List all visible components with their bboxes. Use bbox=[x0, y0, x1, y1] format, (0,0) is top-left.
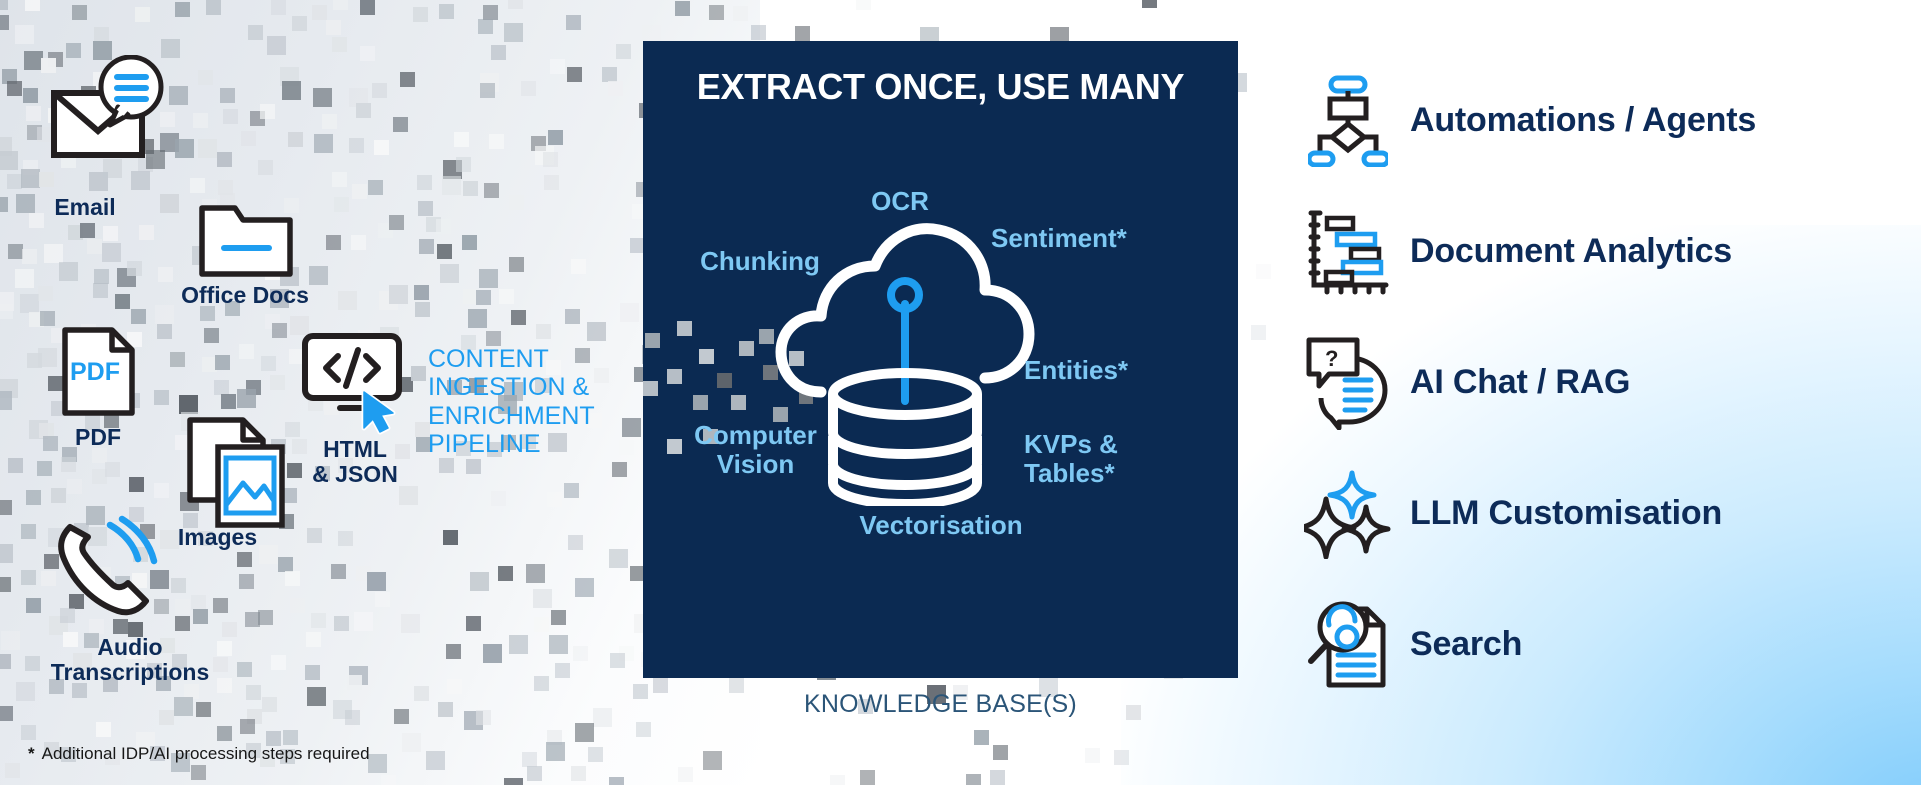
source-label-pdf: PDF bbox=[38, 425, 158, 450]
pdf-document-icon: PDF bbox=[60, 325, 140, 420]
question-speech-bubble-icon: ? bbox=[1300, 336, 1396, 430]
knowledge-base-panel: EXTRACT ONCE, USE MANY bbox=[643, 41, 1238, 678]
panel-label-vectorisation: Vectorisation bbox=[781, 511, 1101, 540]
footnote: *Additional IDP/AI processing steps requ… bbox=[28, 744, 370, 764]
sparkles-icon bbox=[1300, 469, 1396, 559]
email-envelope-icon bbox=[50, 55, 170, 165]
folder-icon bbox=[197, 200, 295, 280]
footnote-marker: * bbox=[28, 744, 35, 763]
images-stack-icon bbox=[185, 415, 290, 530]
source-label-audio: Audio Transcriptions bbox=[5, 635, 255, 686]
knowledge-base-caption: KNOWLEDGE BASE(S) bbox=[643, 690, 1238, 719]
output-row-automations-agents[interactable]: Automations / Agents bbox=[1300, 55, 1920, 186]
panel-label-chunking: Chunking bbox=[665, 247, 855, 276]
phone-audio-icon bbox=[48, 515, 168, 625]
diagram-canvas: Email Office Docs PDF PDF HTML & JSON Im… bbox=[0, 0, 1921, 785]
pipeline-label: CONTENT INGESTION & ENRICHMENT PIPELINE bbox=[428, 345, 643, 458]
output-label-ai-chat-rag: AI Chat / RAG bbox=[1410, 363, 1630, 402]
output-label-automations-agents: Automations / Agents bbox=[1410, 101, 1756, 140]
panel-label-kvps-tables: KVPs & Tables* bbox=[1024, 430, 1214, 489]
output-row-document-analytics[interactable]: Document Analytics bbox=[1300, 186, 1920, 317]
footnote-text: Additional IDP/AI processing steps requi… bbox=[42, 744, 370, 763]
panel-label-entities: Entities* bbox=[1024, 356, 1214, 385]
source-label-email: Email bbox=[30, 195, 140, 220]
workflow-nodes-icon bbox=[1300, 75, 1396, 167]
panel-label-computer-vision: Computer Vision bbox=[658, 421, 853, 480]
panel-label-ocr: OCR bbox=[840, 187, 960, 216]
output-label-llm-customisation: LLM Customisation bbox=[1410, 494, 1722, 533]
output-label-search: Search bbox=[1410, 625, 1522, 664]
output-label-document-analytics: Document Analytics bbox=[1410, 232, 1732, 271]
source-label-office-docs: Office Docs bbox=[150, 283, 340, 308]
gantt-chart-icon bbox=[1300, 209, 1396, 295]
output-row-search[interactable]: Search bbox=[1300, 579, 1920, 710]
magnifier-document-icon bbox=[1300, 599, 1396, 691]
panel-label-group: OCR Sentiment* Chunking Entities* Comput… bbox=[643, 41, 1238, 678]
outputs-list: Automations / Agents bbox=[1300, 55, 1920, 710]
code-monitor-icon bbox=[300, 328, 410, 438]
output-row-llm-customisation[interactable]: LLM Customisation bbox=[1300, 448, 1920, 579]
panel-label-sentiment: Sentiment* bbox=[991, 224, 1191, 253]
output-row-ai-chat-rag[interactable]: ? AI Chat / RAG bbox=[1300, 317, 1920, 448]
svg-text:?: ? bbox=[1325, 346, 1338, 371]
pdf-badge-text: PDF bbox=[70, 358, 120, 386]
